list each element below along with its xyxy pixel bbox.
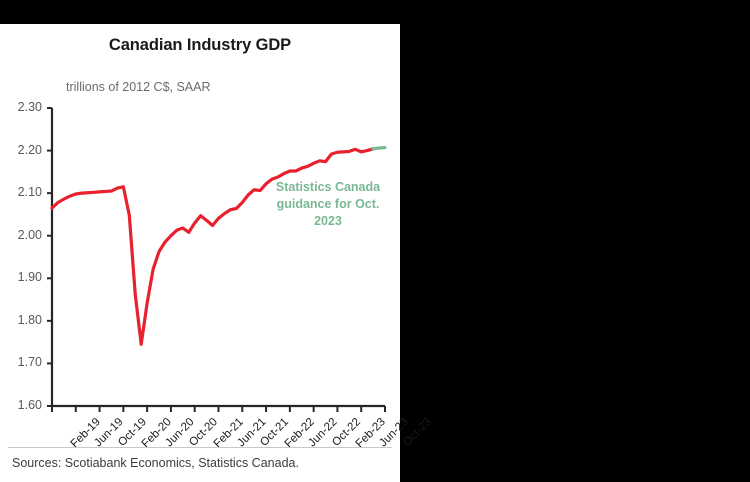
- plot-area: [0, 24, 400, 482]
- y-axis-tick-label: 1.70: [0, 355, 42, 369]
- y-axis-tick-label: 1.90: [0, 270, 42, 284]
- y-axis-tick-label: 2.30: [0, 100, 42, 114]
- source-text: Sources: Scotiabank Economics, Statistic…: [12, 456, 299, 470]
- chart-panel: Canadian Industry GDP trillions of 2012 …: [0, 24, 400, 482]
- source-divider: [8, 447, 392, 448]
- y-axis-tick-label: 1.80: [0, 313, 42, 327]
- y-axis-tick-label: 2.20: [0, 143, 42, 157]
- y-axis-tick-label: 2.10: [0, 185, 42, 199]
- gdp-line-series: [52, 149, 373, 344]
- y-axis-tick-label: 2.00: [0, 228, 42, 242]
- guidance-line-series: [373, 148, 385, 149]
- y-axis-tick-label: 1.60: [0, 398, 42, 412]
